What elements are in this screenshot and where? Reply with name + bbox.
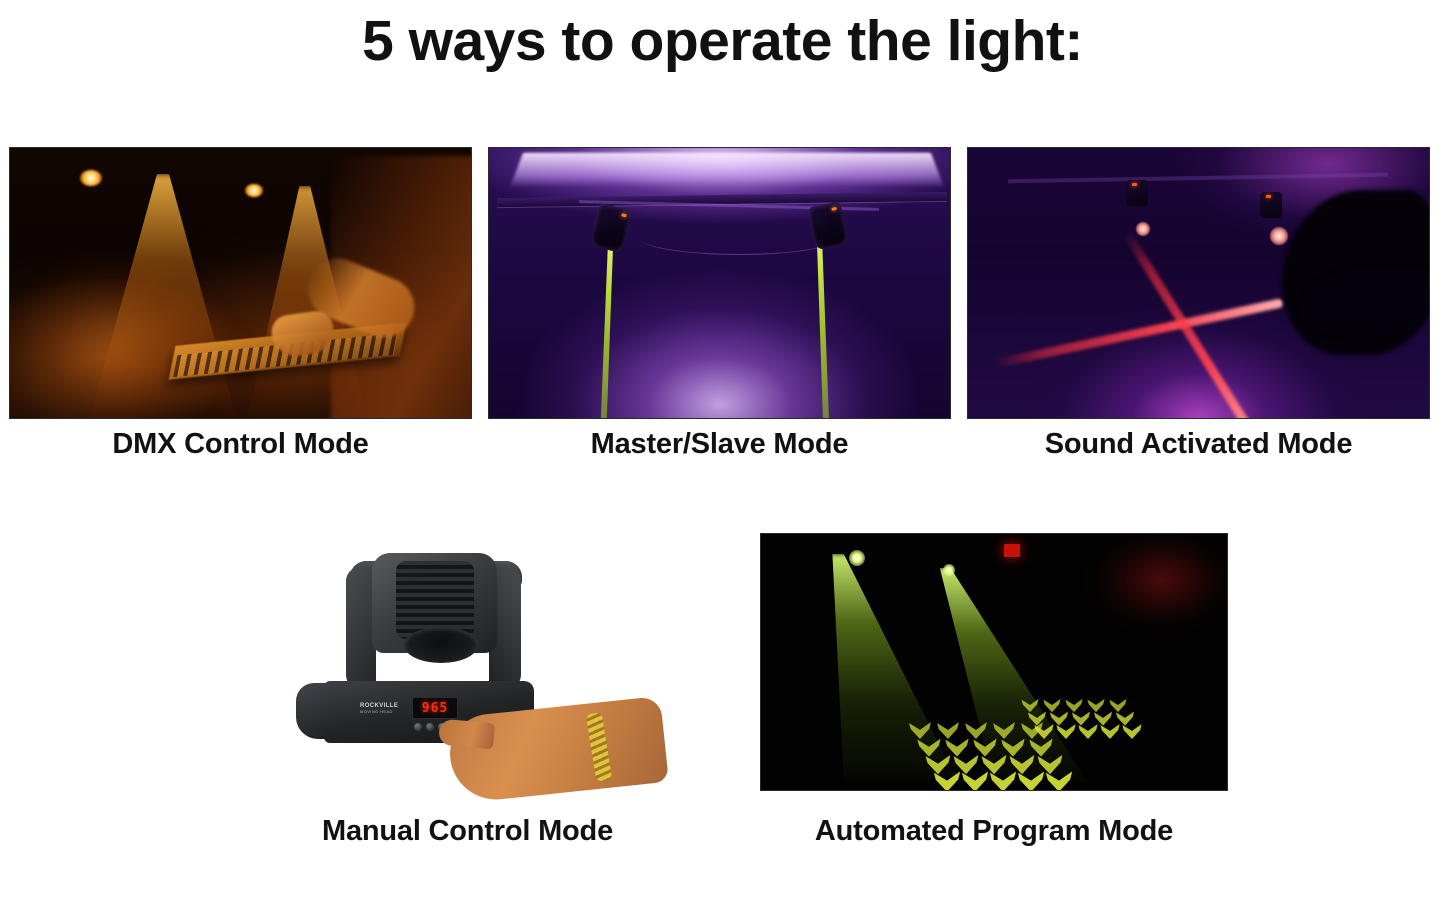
image-sound-activated-mode: [967, 147, 1430, 419]
sound-activated-hotspot-right: [1270, 227, 1288, 245]
gobo-pattern-shape: [1043, 699, 1060, 712]
gobo-pattern-shape: [1001, 738, 1025, 756]
gobo-pattern-shape: [1018, 771, 1045, 791]
gobo-pattern-shape: [1037, 755, 1062, 774]
gobo-pattern-shape: [925, 755, 950, 774]
gobo-pattern-shape: [1072, 711, 1090, 725]
gobo-pattern-shape: [1046, 771, 1073, 791]
image-manual-control-mode: ROCKVILLE MOVING HEAD 965: [264, 531, 669, 803]
infographic-canvas: 5 ways to operate the light: DMX Control…: [0, 0, 1445, 899]
gobo-pattern-shape: [1009, 755, 1034, 774]
fixture-led-indicator: [1132, 183, 1137, 186]
caption-dmx-control-mode: DMX Control Mode: [9, 428, 472, 461]
gobo-pattern-shape: [1056, 724, 1076, 739]
fixture-led-indicator: [621, 213, 627, 217]
led-display: 965: [412, 697, 458, 719]
gobo-pattern-shape: [909, 722, 931, 739]
gobo-pattern-shape: [1029, 738, 1053, 756]
gobo-pattern-shape: [1021, 699, 1038, 712]
gobo-pattern-shape: [1122, 724, 1142, 739]
brand-subtitle: MOVING HEAD: [360, 709, 398, 714]
image-master-slave-mode: [488, 147, 951, 419]
page-title: 5 ways to operate the light:: [0, 12, 1445, 72]
moving-head-lens: [404, 627, 478, 663]
dmx-fixture-hotspot-left: [80, 170, 102, 186]
sound-activated-fixture-left: [1126, 180, 1148, 206]
gobo-pattern-shape: [1050, 711, 1068, 725]
gobo-pattern-shape: [1094, 711, 1112, 725]
caption-manual-control-mode: Manual Control Mode: [240, 815, 695, 848]
master-slave-scene-background: [489, 148, 950, 418]
image-dmx-control-mode: [9, 147, 472, 419]
fixture-led-indicator: [831, 207, 837, 211]
gobo-pattern-shape: [937, 722, 959, 739]
gobo-pattern-shape: [1109, 699, 1126, 712]
gobo-projection-field: [761, 534, 1227, 790]
dmx-fixture-hotspot-right: [245, 184, 263, 197]
master-slave-ceiling: [511, 153, 944, 187]
gobo-pattern-shape: [1065, 699, 1082, 712]
gobo-pattern-shape: [990, 771, 1017, 791]
caption-sound-activated-mode: Sound Activated Mode: [967, 428, 1430, 461]
up-button[interactable]: [426, 723, 434, 731]
brand-logo: ROCKVILLE MOVING HEAD: [360, 703, 398, 714]
gobo-pattern-shape: [1087, 699, 1104, 712]
gobo-pattern-shape: [993, 722, 1015, 739]
dmx-haze: [28, 258, 228, 418]
sound-activated-fixture-right: [1260, 192, 1282, 218]
gobo-pattern-shape: [953, 755, 978, 774]
gobo-pattern-shape: [1028, 711, 1046, 725]
caption-automated-program-mode: Automated Program Mode: [760, 815, 1228, 848]
master-slave-cable: [639, 220, 839, 255]
caption-master-slave-mode: Master/Slave Mode: [488, 428, 951, 461]
gobo-pattern-shape: [962, 771, 989, 791]
gobo-pattern-shape: [1116, 711, 1134, 725]
gobo-pattern-shape: [934, 771, 961, 791]
gobo-pattern-shape: [945, 738, 969, 756]
operator-index-finger: [438, 719, 495, 750]
fixture-led-indicator: [1266, 195, 1271, 198]
gobo-pattern-shape: [965, 722, 987, 739]
led-display-value: 965: [422, 701, 448, 716]
gobo-pattern-shape: [917, 738, 941, 756]
gobo-pattern-shape: [1078, 724, 1098, 739]
image-automated-program-mode: [760, 533, 1228, 791]
gobo-pattern-shape: [973, 738, 997, 756]
gobo-pattern-shape: [981, 755, 1006, 774]
gobo-pattern-shape: [1100, 724, 1120, 739]
menu-button[interactable]: [414, 723, 422, 731]
sound-activated-hotspot-left: [1136, 222, 1150, 236]
